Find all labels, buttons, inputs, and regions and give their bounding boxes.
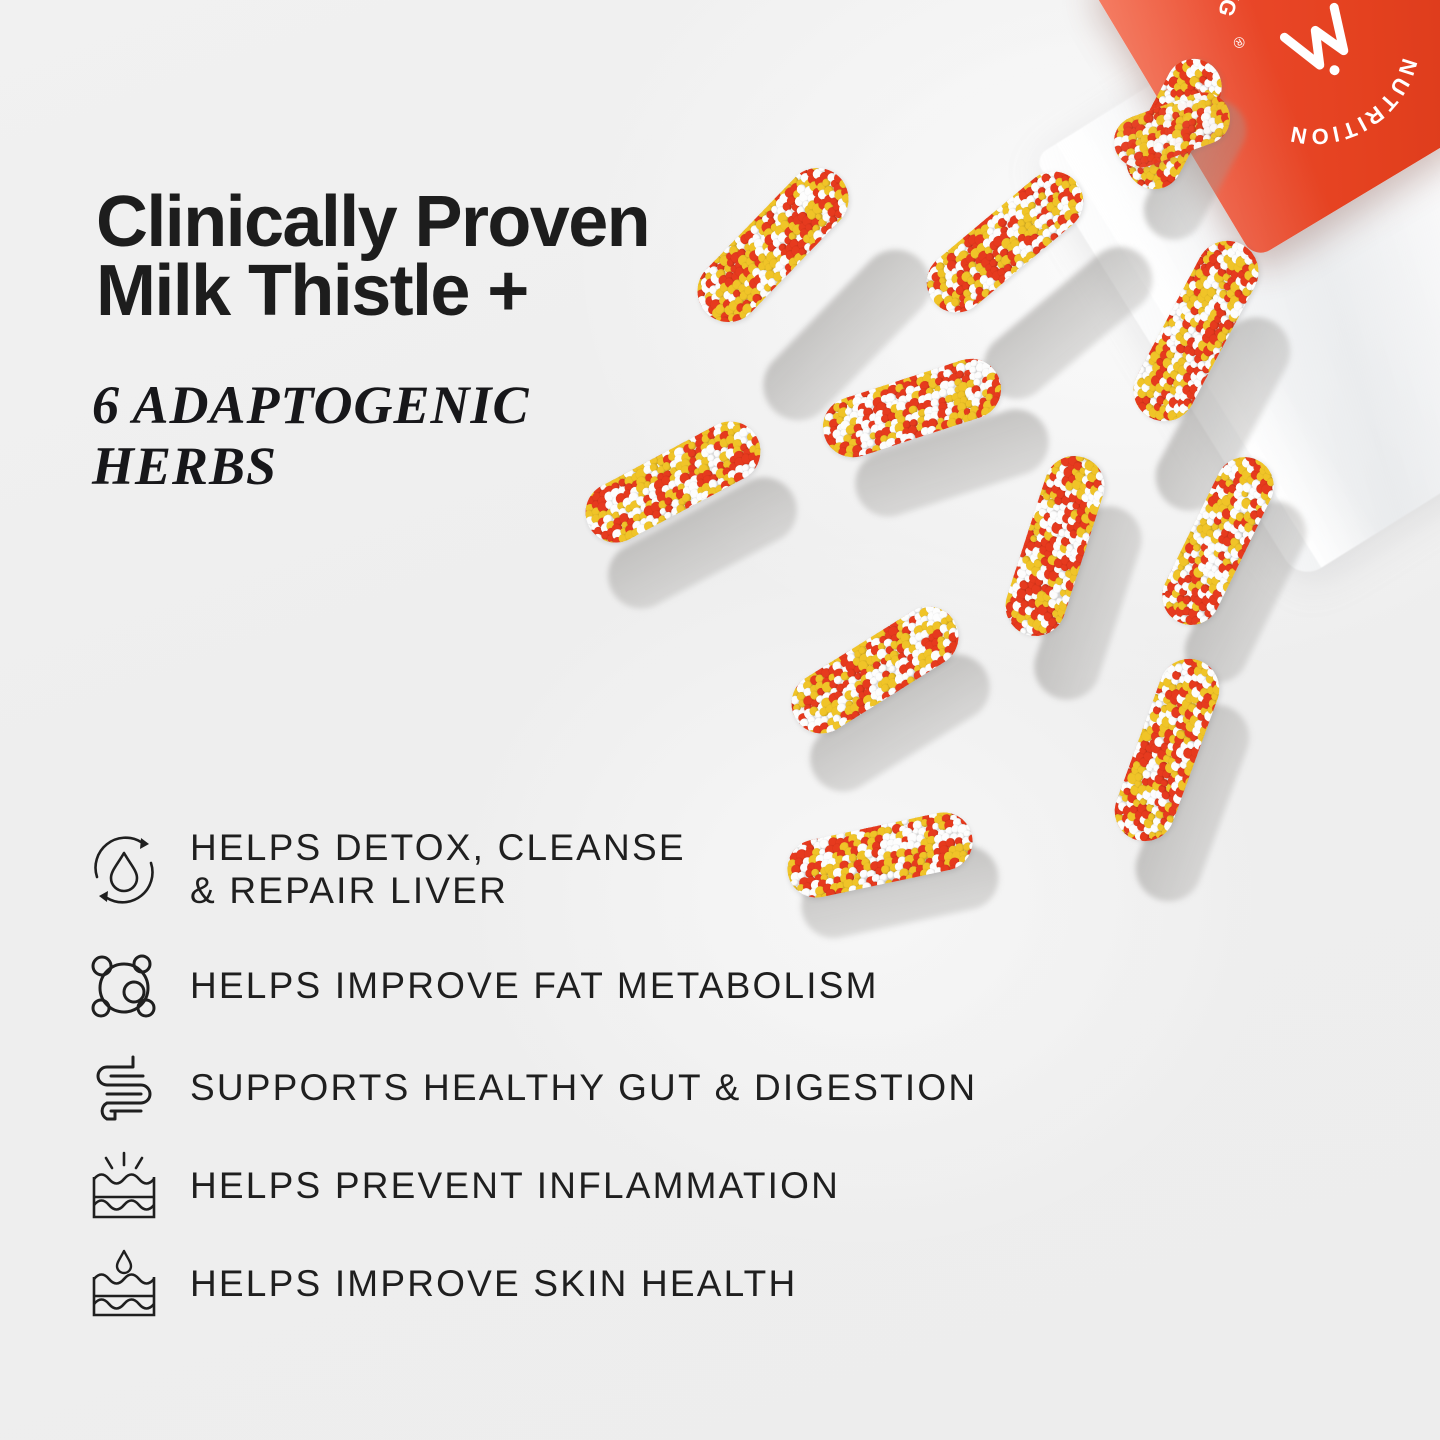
- benefit-label: HELPS IMPROVE FAT METABOLISM: [176, 965, 879, 1008]
- registered-mark: ®: [1229, 31, 1247, 51]
- benefits-list: HELPS DETOX, CLEANSE & REPAIR LIVER HELP…: [72, 818, 1312, 1334]
- benefit-item-fat-metabolism: HELPS IMPROVE FAT METABOLISM: [72, 944, 1312, 1028]
- product-marketing-image: NUTRITION WELLBEING ®: [0, 0, 1440, 1440]
- skin-layers-rays-icon: [72, 1144, 176, 1228]
- page-title: Clinically Proven Milk Thistle +: [96, 188, 916, 325]
- benefit-label: HELPS IMPROVE SKIN HEALTH: [176, 1263, 797, 1306]
- benefit-label: SUPPORTS HEALTHY GUT & DIGESTION: [176, 1067, 977, 1110]
- benefit-label: HELPS DETOX, CLEANSE & REPAIR LIVER: [176, 827, 686, 913]
- w-monogram-icon: [1284, 7, 1364, 87]
- headline-line-2: Milk Thistle +: [96, 257, 916, 325]
- logo-text-left: WELLBEING: [1195, 0, 1351, 31]
- subheadline-line-1: 6 ADAPTOGENIC: [92, 375, 530, 435]
- fat-molecule-icon: [72, 944, 176, 1028]
- benefit-item-gut-digestion: SUPPORTS HEALTHY GUT & DIGESTION: [72, 1046, 1312, 1130]
- benefit-item-detox: HELPS DETOX, CLEANSE & REPAIR LIVER: [72, 818, 1312, 922]
- intestine-gut-icon: [72, 1046, 176, 1130]
- skin-layers-droplet-icon: [72, 1242, 176, 1326]
- benefit-item-skin-health: HELPS IMPROVE SKIN HEALTH: [72, 1242, 1312, 1326]
- benefit-label: HELPS PREVENT INFLAMMATION: [176, 1165, 840, 1208]
- svg-text:WELLBEING: WELLBEING: [1195, 0, 1351, 31]
- benefit-item-inflammation: HELPS PREVENT INFLAMMATION: [72, 1144, 1312, 1228]
- subheadline-line-2: HERBS: [92, 436, 712, 498]
- detox-droplet-cycle-icon: [72, 818, 176, 922]
- page-subtitle: 6 ADAPTOGENIC HERBS: [92, 375, 712, 498]
